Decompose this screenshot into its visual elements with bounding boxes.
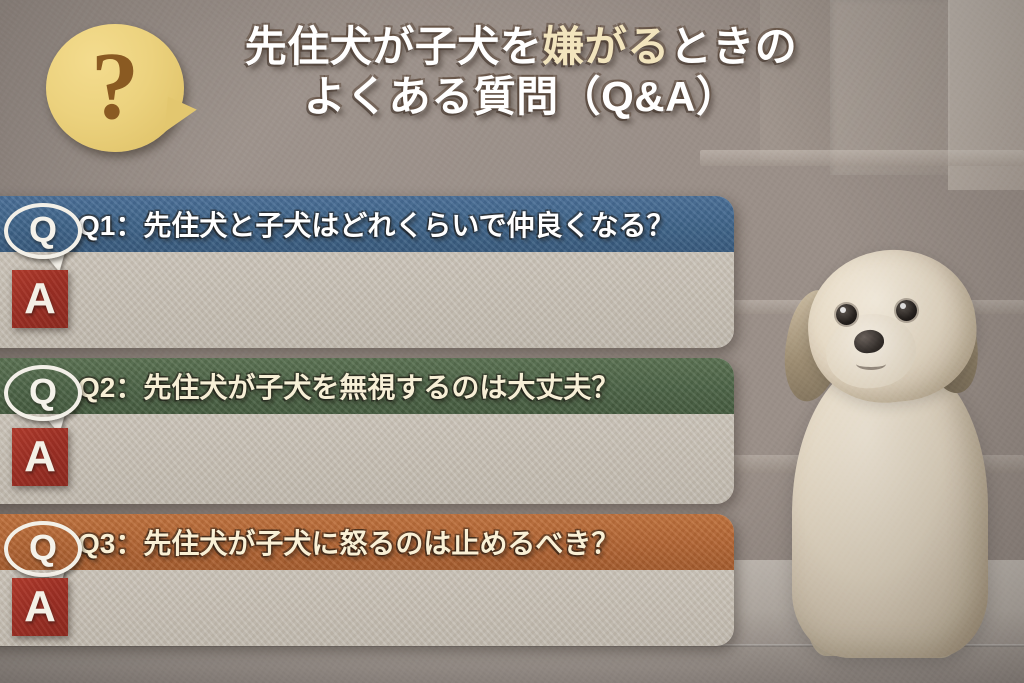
dog-eye-right	[896, 300, 917, 321]
answer-badge-icon: A	[12, 428, 68, 486]
answer-badge-letter: A	[24, 585, 56, 629]
faq-question-header[interactable]: Q1：先住犬と子犬はどれくらいで仲良くなる？	[0, 196, 734, 252]
faq-question-number: Q3	[78, 528, 115, 559]
answer-badge-icon: A	[12, 270, 68, 328]
answer-badge-icon: A	[12, 578, 68, 636]
faq-question-header[interactable]: Q2：先住犬が子犬を無視するのは大丈夫？	[0, 358, 734, 414]
dog-photo	[770, 238, 1020, 658]
faq-question-number: Q1	[78, 210, 115, 241]
dog-eye-highlight-left	[840, 307, 846, 313]
dog-mouth	[856, 358, 886, 370]
question-badge-letter: Q	[4, 203, 82, 259]
question-mark-glyph: ?	[46, 24, 184, 152]
faq-card[interactable]: Q2：先住犬が子犬を無視するのは大丈夫？ Q A	[0, 358, 734, 504]
question-badge-icon: Q	[4, 521, 82, 577]
stair-step-upper	[700, 150, 1024, 166]
dog-chest	[826, 406, 944, 576]
page-title-line-1-highlight: 嫌がる	[542, 23, 670, 70]
faq-question-body: 先住犬が子犬に怒るのは止めるべき？	[143, 528, 619, 559]
faq-question-number: Q2	[78, 372, 115, 403]
faq-question-body: 先住犬と子犬はどれくらいで仲良くなる？	[143, 210, 674, 241]
faq-question-text: Q2：先住犬が子犬を無視するのは大丈夫？	[78, 366, 619, 406]
answer-badge-letter: A	[24, 435, 56, 479]
question-badge-letter: Q	[4, 365, 82, 421]
page-title-line-2: よくある質問（Q&A）	[176, 72, 866, 122]
question-mark-bubble-icon: ?	[46, 24, 184, 152]
faq-question-separator: ：	[115, 528, 143, 559]
question-badge-icon: Q	[4, 203, 82, 259]
faq-question-text: Q1：先住犬と子犬はどれくらいで仲良くなる？	[78, 204, 675, 244]
faq-question-text: Q3：先住犬が子犬に怒るのは止めるべき？	[78, 522, 619, 562]
faq-question-header[interactable]: Q3：先住犬が子犬に怒るのは止めるべき？	[0, 514, 734, 570]
question-badge-icon: Q	[4, 365, 82, 421]
dog-eye-highlight-right	[900, 303, 906, 309]
faq-question-body: 先住犬が子犬を無視するのは大丈夫？	[143, 372, 619, 403]
page-title: 先住犬が子犬を嫌がるときの よくある質問（Q&A）	[176, 22, 866, 121]
page-title-line-1-part-1: 先住犬が子犬を	[245, 23, 543, 70]
page-title-line-1: 先住犬が子犬を嫌がるときの	[176, 22, 866, 72]
page-title-line-1-part-2: ときの	[670, 23, 798, 70]
faq-question-separator: ：	[115, 372, 143, 403]
faq-card[interactable]: Q3：先住犬が子犬に怒るのは止めるべき？ Q A	[0, 514, 734, 646]
question-badge-letter: Q	[4, 521, 82, 577]
faq-card[interactable]: Q1：先住犬と子犬はどれくらいで仲良くなる？ Q A	[0, 196, 734, 348]
dog-eye-left	[836, 304, 857, 325]
answer-badge-letter: A	[24, 277, 56, 321]
screenshot-stage: ? 先住犬が子犬を嫌がるときの よくある質問（Q&A） Q1：先住犬と子犬はどれ…	[0, 0, 1024, 683]
faq-question-separator: ：	[115, 210, 143, 241]
